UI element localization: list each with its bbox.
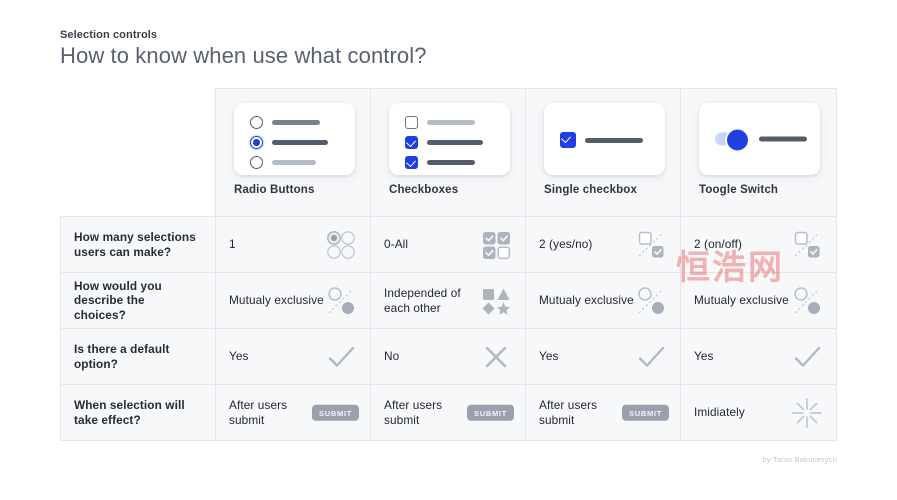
label-bar xyxy=(272,140,328,145)
radio-unchecked-icon[interactable] xyxy=(250,116,263,129)
cell-text: 0-All xyxy=(384,237,479,252)
row-question: How would you describe the choices? xyxy=(61,273,216,329)
row-question-label: How would you describe the choices? xyxy=(74,279,196,323)
table-row: How would you describe the choices? Mutu… xyxy=(61,273,837,329)
sparkle-icon xyxy=(789,395,825,431)
cell-text: Yes xyxy=(694,349,789,364)
column-header-checkboxes[interactable]: Checkboxes xyxy=(371,89,526,217)
row-question: How many selections users can make? xyxy=(61,217,216,273)
submit-button-icon[interactable]: SUBMIT xyxy=(467,404,514,421)
cross-icon xyxy=(478,339,514,375)
cell-checkbox-default: No xyxy=(371,329,526,385)
cell-text: Independed of each other xyxy=(384,286,479,315)
submit-button-icon[interactable]: SUBMIT xyxy=(312,404,359,421)
toggle-switch-icon[interactable] xyxy=(715,133,745,146)
row-question-label: When selection will take effect? xyxy=(74,398,196,427)
column-header-toggle-switch[interactable]: Toogle Switch xyxy=(681,89,837,217)
table-row: How many selections users can make? 1 0-… xyxy=(61,217,837,273)
cell-radio-description: Mutualy exclusive xyxy=(216,273,371,329)
circles-diagonal-icon xyxy=(633,283,669,319)
circles-diagonal-icon xyxy=(789,283,825,319)
cell-text: Mutualy exclusive xyxy=(694,293,789,308)
cell-checkbox-description: Independed of each other xyxy=(371,273,526,329)
check-icon xyxy=(323,339,359,375)
infographic-canvas: Selection controls How to know when use … xyxy=(0,0,897,500)
submit-button-icon[interactable]: SUBMIT xyxy=(622,404,669,421)
toggle-switch-preview xyxy=(699,103,820,175)
credit-label: by Taras Bakusevych xyxy=(762,455,837,464)
toggle-knob[interactable] xyxy=(727,129,748,150)
row-question-label: How many selections users can make? xyxy=(74,230,196,259)
checkbox-checked-icon[interactable] xyxy=(405,136,418,149)
checkbox-pair-diagonal-icon xyxy=(789,227,825,263)
comparison-table: Radio Buttons xyxy=(60,88,837,441)
cell-text: Yes xyxy=(229,349,324,364)
label-bar xyxy=(272,120,320,125)
cell-text: 2 (on/off) xyxy=(694,237,789,252)
row-question-label: Is there a default option? xyxy=(74,342,196,371)
checkbox-checked-icon[interactable] xyxy=(560,132,576,148)
cell-text: No xyxy=(384,349,479,364)
cell-toggle-description: Mutualy exclusive xyxy=(681,273,837,329)
row-question: When selection will take effect? xyxy=(61,385,216,441)
row-question: Is there a default option? xyxy=(61,329,216,385)
radio-checked-icon[interactable] xyxy=(250,136,263,149)
table-header-row: Radio Buttons xyxy=(61,89,837,217)
radio-buttons-preview xyxy=(234,103,355,175)
column-header-label: Radio Buttons xyxy=(234,184,370,196)
radio-unchecked-icon[interactable] xyxy=(250,156,263,169)
label-bar xyxy=(427,120,475,125)
cell-toggle-selections: 2 (on/off) xyxy=(681,217,837,273)
circles-diagonal-icon xyxy=(323,283,359,319)
cell-text: 1 xyxy=(229,237,324,252)
cell-toggle-effect: Imidiately xyxy=(681,385,837,441)
shapes-grid-icon xyxy=(478,283,514,319)
cell-single-checkbox-effect: After users submit SUBMIT xyxy=(526,385,681,441)
cell-checkbox-selections: 0-All xyxy=(371,217,526,273)
checkboxes-preview xyxy=(389,103,510,175)
table-row: Is there a default option? Yes No xyxy=(61,329,837,385)
cell-toggle-default: Yes xyxy=(681,329,837,385)
eyebrow-label: Selection controls xyxy=(60,29,157,41)
table-row: When selection will take effect? After u… xyxy=(61,385,837,441)
cell-single-checkbox-selections: 2 (yes/no) xyxy=(526,217,681,273)
label-bar xyxy=(585,138,643,143)
label-bar xyxy=(759,137,807,142)
radio-grid-icon xyxy=(323,227,359,263)
cell-text: 2 (yes/no) xyxy=(539,237,634,252)
label-bar xyxy=(427,160,475,165)
cell-radio-default: Yes xyxy=(216,329,371,385)
header-corner-cell xyxy=(61,89,216,217)
cell-text: After users submit xyxy=(229,398,324,427)
cell-text: Yes xyxy=(539,349,634,364)
cell-radio-effect: After users submit SUBMIT xyxy=(216,385,371,441)
column-header-label: Single checkbox xyxy=(544,184,680,196)
checkbox-checked-icon[interactable] xyxy=(405,156,418,169)
cell-single-checkbox-description: Mutualy exclusive xyxy=(526,273,681,329)
checkbox-unchecked-icon[interactable] xyxy=(405,116,418,129)
cell-text: Mutualy exclusive xyxy=(229,293,324,308)
column-header-radio-buttons[interactable]: Radio Buttons xyxy=(216,89,371,217)
check-icon xyxy=(633,339,669,375)
checkbox-grid-icon xyxy=(478,227,514,263)
label-bar xyxy=(272,160,316,165)
page-title: How to know when use what control? xyxy=(60,43,427,69)
cell-text: After users submit xyxy=(384,398,479,427)
column-header-label: Toogle Switch xyxy=(699,184,836,196)
cell-radio-selections: 1 xyxy=(216,217,371,273)
single-checkbox-preview xyxy=(544,103,665,175)
cell-checkbox-effect: After users submit SUBMIT xyxy=(371,385,526,441)
cell-single-checkbox-default: Yes xyxy=(526,329,681,385)
column-header-single-checkbox[interactable]: Single checkbox xyxy=(526,89,681,217)
column-header-label: Checkboxes xyxy=(389,184,525,196)
cell-text: Mutualy exclusive xyxy=(539,293,634,308)
checkbox-pair-diagonal-icon xyxy=(633,227,669,263)
cell-text: After users submit xyxy=(539,398,634,427)
cell-text: Imidiately xyxy=(694,405,789,420)
label-bar xyxy=(427,140,483,145)
check-icon xyxy=(789,339,825,375)
